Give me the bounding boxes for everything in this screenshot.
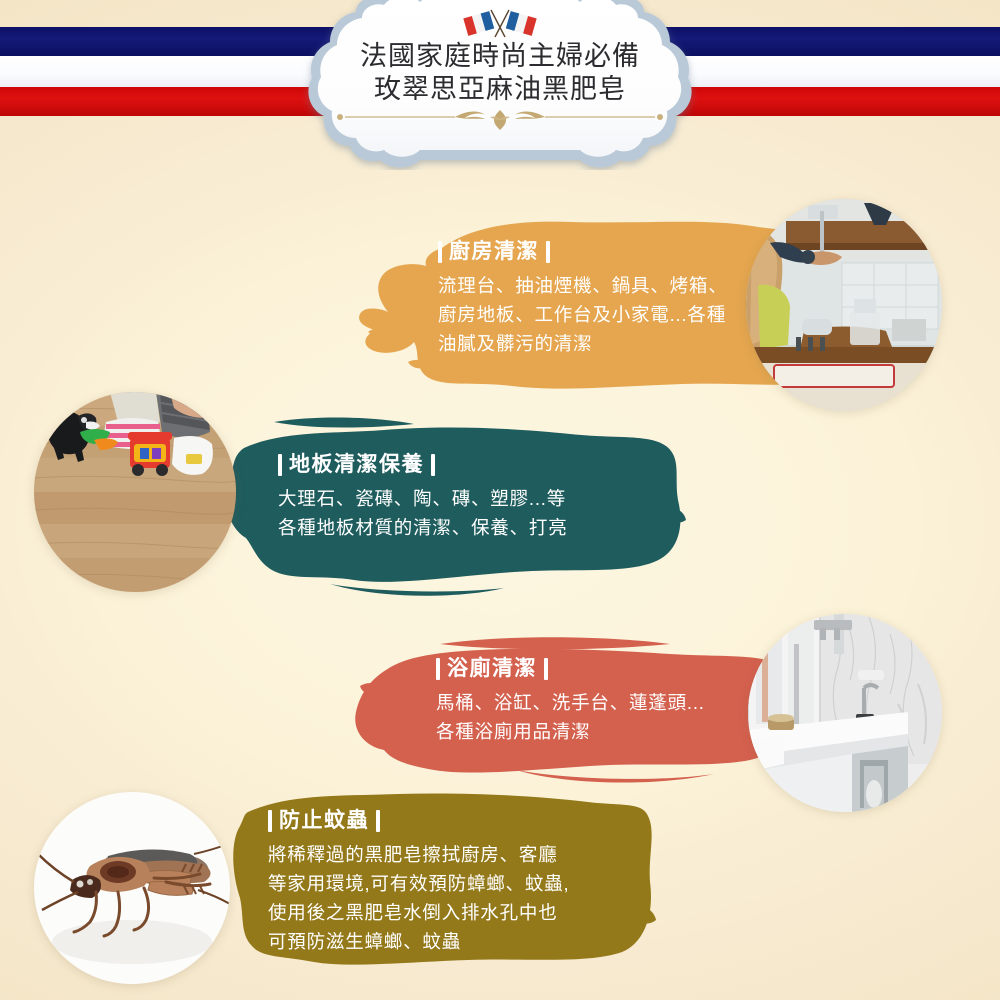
heading-bar-right-icon (376, 810, 380, 832)
kitchen-photo (746, 199, 942, 411)
section-pest-line3: 使用後之黑肥皂水倒入排水孔中也 (268, 898, 598, 927)
heading-bar-left-icon (278, 454, 282, 476)
section-kitchen-text: 廚房清潔 流理台、抽油煙機、鍋具、烤箱、 廚房地板、工作台及小家電...各種 油… (438, 239, 738, 358)
heading-bar-left-icon (268, 810, 272, 832)
cockroach-photo (34, 792, 230, 984)
section-pest-line2: 等家用環境,可有效預防蟑螂、蚊蟲, (268, 869, 598, 898)
heading-bar-left-icon (436, 658, 440, 680)
section-pest-text: 防止蚊蟲 將稀釋過的黑肥皂擦拭廚房、客廳 等家用環境,可有效預防蟑螂、蚊蟲, 使… (268, 808, 598, 956)
bathroom-photo (748, 614, 942, 812)
section-pest-line4: 可預防滋生蟑螂、蚊蟲 (268, 927, 598, 956)
section-bathroom-line2: 各種浴廁用品清潔 (436, 717, 736, 746)
section-kitchen-line3: 油膩及髒污的清潔 (438, 329, 738, 358)
heading-label: 地板清潔保養 (289, 452, 424, 478)
page-title: 法國家庭時尚主婦必備 玫翠思亞麻油黑肥皂 (360, 40, 640, 106)
heading-label: 廚房清潔 (449, 239, 539, 265)
section-floor-line2: 各種地板材質的清潔、保養、打亮 (278, 513, 608, 542)
badge-title-line1: 法國家庭時尚主婦必備 (360, 40, 640, 73)
section-kitchen-line1: 流理台、抽油煙機、鍋具、烤箱、 (438, 271, 738, 300)
heading-bar-right-icon (431, 454, 435, 476)
heading-bar-right-icon (546, 241, 550, 263)
filigree-ornament-icon (335, 109, 665, 131)
section-pest-line1: 將稀釋過的黑肥皂擦拭廚房、客廳 (268, 840, 598, 869)
section-kitchen-line2: 廚房地板、工作台及小家電...各種 (438, 300, 738, 329)
section-bathroom-text: 浴廁清潔 馬桶、浴缸、洗手台、蓮蓬頭... 各種浴廁用品清潔 (436, 656, 736, 746)
heading-label: 防止蚊蟲 (279, 808, 369, 834)
product-feature-poster: 法國家庭時尚主婦必備 玫翠思亞麻油黑肥皂 (0, 0, 1000, 1000)
badge-title-line2: 玫翠思亞麻油黑肥皂 (360, 73, 640, 106)
section-floor-heading: 地板清潔保養 (278, 452, 608, 478)
section-kitchen-heading: 廚房清潔 (438, 239, 738, 265)
heading-bar-left-icon (438, 241, 442, 263)
french-flag-crossed-icon (455, 4, 545, 38)
section-floor-line1: 大理石、瓷磚、陶、磚、塑膠...等 (278, 484, 608, 513)
floor-photo (34, 392, 236, 592)
heading-bar-right-icon (544, 658, 548, 680)
section-floor-text: 地板清潔保養 大理石、瓷磚、陶、磚、塑膠...等 各種地板材質的清潔、保養、打亮 (278, 452, 608, 542)
section-bathroom-heading: 浴廁清潔 (436, 656, 736, 682)
heading-label: 浴廁清潔 (447, 656, 537, 682)
header-badge: 法國家庭時尚主婦必備 玫翠思亞麻油黑肥皂 (298, 0, 702, 170)
section-pest-heading: 防止蚊蟲 (268, 808, 598, 834)
section-bathroom-line1: 馬桶、浴缸、洗手台、蓮蓬頭... (436, 688, 736, 717)
